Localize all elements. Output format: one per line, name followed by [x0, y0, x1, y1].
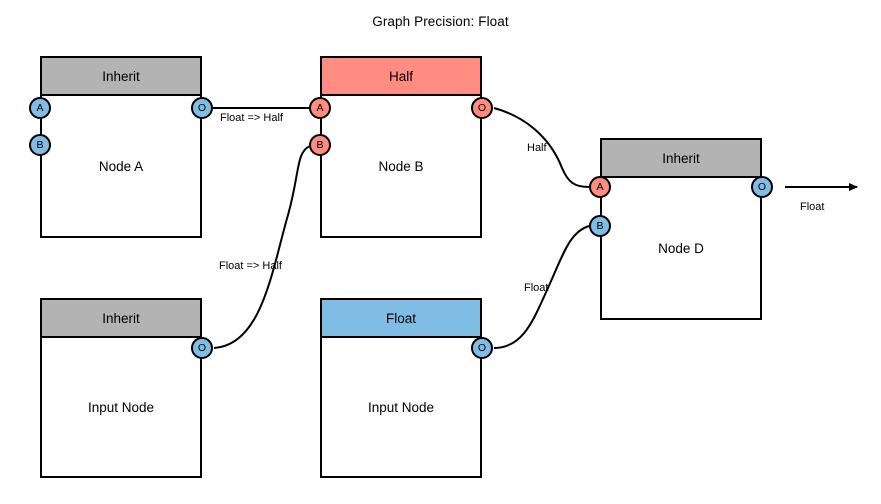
- node-header-node-b[interactable]: Half: [322, 58, 480, 96]
- edge-label-edge-b-to-d-a: Half: [527, 142, 547, 154]
- port-output-node-a-o[interactable]: O: [191, 97, 213, 119]
- node-node-a[interactable]: InheritNode A: [40, 56, 202, 238]
- node-header-node-a[interactable]: Inherit: [42, 58, 200, 96]
- node-node-b[interactable]: HalfNode B: [320, 56, 482, 238]
- port-output-node-d-o[interactable]: O: [751, 176, 773, 198]
- node-body-input-node-center: Input Node: [322, 338, 480, 476]
- node-input-node-center[interactable]: FloatInput Node: [320, 298, 482, 478]
- node-body-node-a: Node A: [42, 96, 200, 236]
- port-output-node-b-o[interactable]: O: [471, 97, 493, 119]
- node-body-node-d: Node D: [602, 178, 760, 318]
- edge-label-edge-inputleft-to-b-b: Float => Half: [219, 260, 282, 272]
- node-header-input-node-center[interactable]: Float: [322, 300, 480, 338]
- port-input-node-b-b[interactable]: B: [309, 134, 331, 156]
- node-node-d[interactable]: InheritNode D: [600, 138, 762, 320]
- node-header-node-d[interactable]: Inherit: [602, 140, 760, 178]
- node-header-input-node-left[interactable]: Inherit: [42, 300, 200, 338]
- port-output-input-node-left-o[interactable]: O: [191, 337, 213, 359]
- port-input-node-a-b[interactable]: B: [29, 134, 51, 156]
- edge-label-edge-a-to-b-a: Float => Half: [220, 112, 283, 124]
- graph-canvas: Graph Precision: Float InheritNode AABOH…: [0, 0, 881, 504]
- node-body-node-b: Node B: [322, 96, 480, 236]
- port-input-node-d-b[interactable]: B: [589, 215, 611, 237]
- edge-edge-inputleft-to-b-b[interactable]: [214, 146, 310, 348]
- port-input-node-a-a[interactable]: A: [29, 97, 51, 119]
- port-output-input-node-center-o[interactable]: O: [471, 337, 493, 359]
- port-input-node-d-a[interactable]: A: [589, 176, 611, 198]
- port-input-node-b-a[interactable]: A: [309, 97, 331, 119]
- node-body-input-node-left: Input Node: [42, 338, 200, 476]
- edge-label-edge-d-output: Float: [800, 201, 824, 213]
- edge-label-edge-inputcenter-to-d-b: Float: [524, 282, 548, 294]
- node-input-node-left[interactable]: InheritInput Node: [40, 298, 202, 478]
